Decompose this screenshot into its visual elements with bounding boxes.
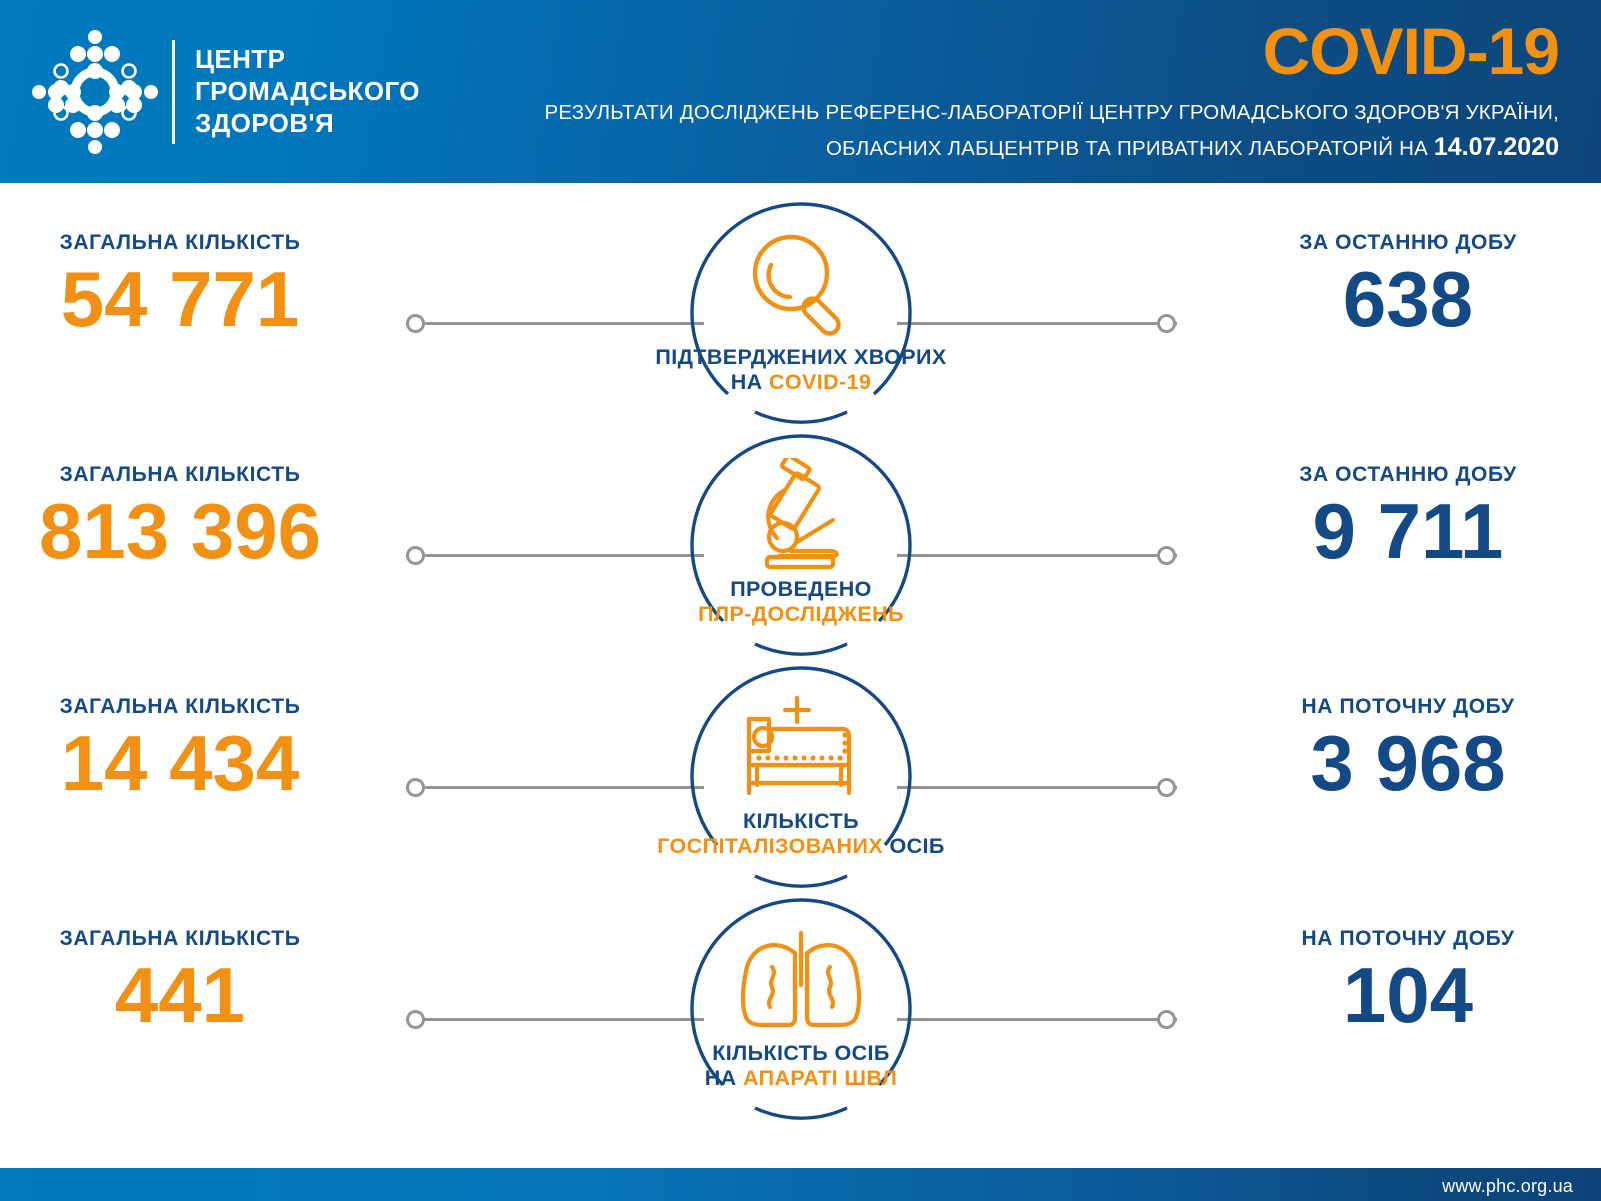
left-stat: ЗАГАЛЬНА КІЛЬКІСТЬ 14 434	[0, 695, 400, 805]
organization-name: ЦЕНТР ГРОМАДСЬКОГО ЗДОРОВ'Я	[195, 44, 420, 140]
report-date: 14.07.2020	[1434, 133, 1559, 161]
caption-orange-text: ГОСПІТАЛІЗОВАНИХ	[657, 834, 883, 858]
logo-divider	[172, 40, 175, 144]
left-stat-value: 14 434	[0, 723, 400, 805]
caption-orange-text: АПАРАТІ ШВЛ	[743, 1066, 897, 1090]
caption-line-1: ПІДТВЕРДЖЕНИХ ХВОРИХ	[655, 345, 946, 369]
magnifier-icon	[743, 229, 859, 341]
subtitle-line-2-text: ОБЛАСНИХ ЛАБЦЕНТРІВ ТА ПРИВАТНИХ ЛАБОРАТ…	[826, 137, 1428, 160]
left-stat-value: 813 396	[0, 491, 400, 573]
right-stat: ЗА ОСТАННЮ ДОБУ 9 711	[1188, 463, 1601, 573]
right-stat-value: 104	[1188, 955, 1601, 1037]
caption-orange-text: ПЛР-ДОСЛІДЖЕНЬ	[698, 602, 904, 626]
left-stat: ЗАГАЛЬНА КІЛЬКІСТЬ 813 396	[0, 463, 400, 573]
org-name-line-3: ЗДОРОВ'Я	[195, 108, 420, 140]
left-stat-label: ЗАГАЛЬНА КІЛЬКІСТЬ	[0, 927, 400, 951]
center-badge: КІЛЬКІСТЬ ОСІБ НА АПАРАТІ ШВЛ	[681, 897, 921, 1115]
connector-line-left	[424, 554, 704, 557]
stats-rows: ЗАГАЛЬНА КІЛЬКІСТЬ 54 771 ПІ	[0, 183, 1601, 1111]
row-icon-holder	[681, 921, 921, 1041]
caption-line-1: КІЛЬКІСТЬ	[743, 809, 859, 833]
connector-dot-left	[406, 1010, 425, 1029]
right-stat: НА ПОТОЧНУ ДОБУ 3 968	[1188, 695, 1601, 805]
row-caption: ПІДТВЕРДЖЕНИХ ХВОРИХ НА COVID-19	[621, 345, 981, 395]
connector-line-left	[424, 786, 704, 789]
row-icon-holder	[681, 689, 921, 809]
connector-line-right	[897, 554, 1177, 557]
left-stat-value: 441	[0, 955, 400, 1037]
connector-line-right	[897, 786, 1177, 789]
row-icon-holder	[681, 225, 921, 345]
footer-website-url[interactable]: www.phc.org.ua	[1442, 1176, 1573, 1197]
left-stat-label: ЗАГАЛЬНА КІЛЬКІСТЬ	[0, 463, 400, 487]
subtitle-line-2: ОБЛАСНИХ ЛАБЦЕНТРІВ ТА ПРИВАТНИХ ЛАБОРАТ…	[544, 128, 1559, 166]
connector-line-right	[897, 322, 1177, 325]
right-stat-label: ЗА ОСТАННЮ ДОБУ	[1188, 463, 1601, 487]
lungs-icon	[734, 929, 868, 1033]
left-stat-label: ЗАГАЛЬНА КІЛЬКІСТЬ	[0, 695, 400, 719]
caption-navy-text: НА	[705, 1066, 743, 1090]
connector-line-left	[424, 322, 704, 325]
phc-logo-icon	[28, 26, 162, 158]
caption-line-1: КІЛЬКІСТЬ ОСІБ	[712, 1041, 890, 1065]
caption-navy-text: НА	[731, 370, 769, 394]
right-stat: ЗА ОСТАННЮ ДОБУ 638	[1188, 231, 1601, 341]
connector-dot-right	[1157, 546, 1176, 565]
connector-dot-right	[1157, 778, 1176, 797]
page-title: COVID-19	[1263, 18, 1559, 84]
caption-line-2: ПЛР-ДОСЛІДЖЕНЬ	[621, 602, 981, 627]
connector-dot-left	[406, 314, 425, 333]
left-stat-label: ЗАГАЛЬНА КІЛЬКІСТЬ	[0, 231, 400, 255]
connector-line-right	[897, 1018, 1177, 1021]
center-badge: КІЛЬКІСТЬ ГОСПІТАЛІЗОВАНИХ ОСІБ	[681, 665, 921, 883]
right-stat-label: НА ПОТОЧНУ ДОБУ	[1188, 927, 1601, 951]
connector-dot-right	[1157, 314, 1176, 333]
right-stat-value: 9 711	[1188, 491, 1601, 573]
stat-row-pcr-tests: ЗАГАЛЬНА КІЛЬКІСТЬ 813 396	[0, 415, 1601, 647]
organization-logo: ЦЕНТР ГРОМАДСЬКОГО ЗДОРОВ'Я	[28, 26, 420, 158]
left-stat: ЗАГАЛЬНА КІЛЬКІСТЬ 441	[0, 927, 400, 1037]
caption-line-2: НА АПАРАТІ ШВЛ	[621, 1066, 981, 1091]
caption-line-2: ГОСПІТАЛІЗОВАНИХ ОСІБ	[621, 834, 981, 859]
connector-line-left	[424, 1018, 704, 1021]
infographic-page: ЦЕНТР ГРОМАДСЬКОГО ЗДОРОВ'Я COVID-19 РЕЗ…	[0, 0, 1601, 1201]
right-stat-label: НА ПОТОЧНУ ДОБУ	[1188, 695, 1601, 719]
connector-dot-right	[1157, 1010, 1176, 1029]
org-name-line-2: ГРОМАДСЬКОГО	[195, 76, 420, 108]
row-icon-holder	[681, 457, 921, 577]
microscope-icon	[745, 458, 857, 576]
subtitle-line-1: РЕЗУЛЬТАТИ ДОСЛІДЖЕНЬ РЕФЕРЕНС-ЛАБОРАТОР…	[544, 97, 1559, 128]
caption-line-2: НА COVID-19	[621, 370, 981, 395]
page-header: ЦЕНТР ГРОМАДСЬКОГО ЗДОРОВ'Я COVID-19 РЕЗ…	[0, 0, 1601, 183]
hospital-bed-icon	[739, 695, 863, 803]
org-name-line-1: ЦЕНТР	[195, 44, 420, 76]
right-stat-value: 638	[1188, 259, 1601, 341]
right-stat-label: ЗА ОСТАННЮ ДОБУ	[1188, 231, 1601, 255]
left-stat: ЗАГАЛЬНА КІЛЬКІСТЬ 54 771	[0, 231, 400, 341]
center-badge: ПІДТВЕРДЖЕНИХ ХВОРИХ НА COVID-19	[681, 201, 921, 419]
right-stat: НА ПОТОЧНУ ДОБУ 104	[1188, 927, 1601, 1037]
row-caption: КІЛЬКІСТЬ ОСІБ НА АПАРАТІ ШВЛ	[621, 1041, 981, 1091]
caption-orange-text: COVID-19	[769, 370, 871, 394]
caption-navy-text: ОСІБ	[883, 834, 945, 858]
stat-row-confirmed-cases: ЗАГАЛЬНА КІЛЬКІСТЬ 54 771 ПІ	[0, 183, 1601, 415]
connector-dot-left	[406, 546, 425, 565]
caption-line-1: ПРОВЕДЕНО	[730, 577, 872, 601]
center-badge: ПРОВЕДЕНО ПЛР-ДОСЛІДЖЕНЬ	[681, 433, 921, 651]
row-caption: ПРОВЕДЕНО ПЛР-ДОСЛІДЖЕНЬ	[621, 577, 981, 627]
stat-row-hospitalized: ЗАГАЛЬНА КІЛЬКІСТЬ 14 434	[0, 647, 1601, 879]
connector-dot-left	[406, 778, 425, 797]
left-stat-value: 54 771	[0, 259, 400, 341]
row-caption: КІЛЬКІСТЬ ГОСПІТАЛІЗОВАНИХ ОСІБ	[621, 809, 981, 859]
stat-row-ventilator: ЗАГАЛЬНА КІЛЬКІСТЬ 441	[0, 879, 1601, 1111]
page-footer: www.phc.org.ua	[0, 1168, 1601, 1201]
header-subtitle: РЕЗУЛЬТАТИ ДОСЛІДЖЕНЬ РЕФЕРЕНС-ЛАБОРАТОР…	[544, 97, 1559, 166]
right-stat-value: 3 968	[1188, 723, 1601, 805]
